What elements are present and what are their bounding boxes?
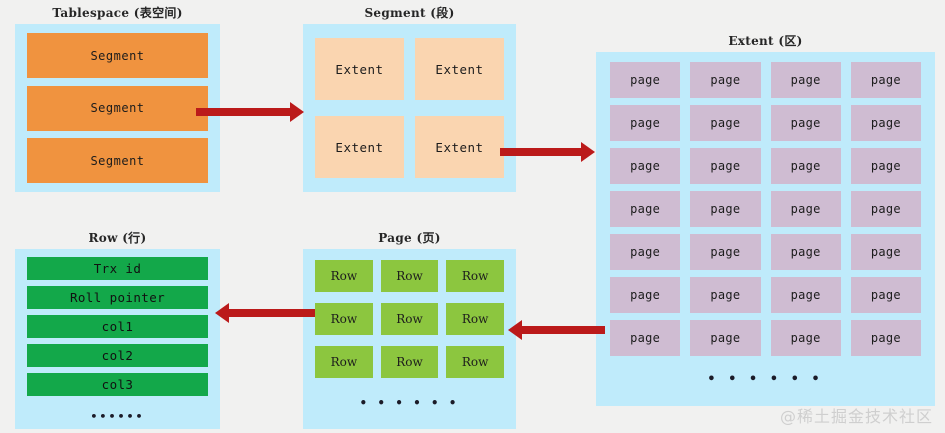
page-box: page xyxy=(610,320,680,356)
page-box: page xyxy=(610,105,680,141)
extent-box: Extent xyxy=(315,116,404,178)
row-panel: Trx id Roll pointer col1 col2 col3 •••••… xyxy=(15,249,220,429)
extent-box: Extent xyxy=(315,38,404,100)
extent-box: Extent xyxy=(415,116,504,178)
row-box: Row xyxy=(315,260,373,292)
row-box: Row xyxy=(315,346,373,378)
tablespace-panel: Segment Segment Segment xyxy=(15,24,220,192)
page-box: page xyxy=(690,234,760,270)
page-box: page xyxy=(690,105,760,141)
tablespace-group: Tablespace (表空间) Segment Segment Segment xyxy=(15,6,220,192)
page-box: page xyxy=(771,62,841,98)
page-box: page xyxy=(610,191,680,227)
page-box: page xyxy=(851,320,921,356)
page-box: page xyxy=(690,191,760,227)
row-box: Row xyxy=(381,346,439,378)
page-box: page xyxy=(610,148,680,184)
page-grid: page page page page page page page page … xyxy=(610,62,921,356)
row-title: Row (行) xyxy=(15,231,220,246)
watermark: @稀土掘金技术社区 xyxy=(780,403,933,427)
page-group: Page (页) Row Row Row Row Row Row Row Row… xyxy=(303,231,516,429)
page-box: page xyxy=(610,277,680,313)
row-field-col3: col3 xyxy=(27,373,208,396)
arrow-extent-to-page-icon xyxy=(521,326,605,334)
page-box: page xyxy=(771,191,841,227)
segment-panel: Extent Extent Extent Extent xyxy=(303,24,516,192)
page-box: page xyxy=(851,234,921,270)
tablespace-title: Tablespace (表空间) xyxy=(15,6,220,21)
row-field-col2: col2 xyxy=(27,344,208,367)
page-box: page xyxy=(771,234,841,270)
page-box: page xyxy=(690,148,760,184)
page-box: page xyxy=(851,148,921,184)
row-field-col1: col1 xyxy=(27,315,208,338)
diagram-canvas: Tablespace (表空间) Segment Segment Segment… xyxy=(0,0,945,433)
arrow-page-to-row-icon xyxy=(228,309,315,317)
row-box: Row xyxy=(446,346,504,378)
segment-box: Segment xyxy=(27,33,208,78)
row-group: Row (行) Trx id Roll pointer col1 col2 co… xyxy=(15,231,220,429)
page-title: Page (页) xyxy=(303,231,516,246)
page-box: page xyxy=(851,277,921,313)
page-box: page xyxy=(610,234,680,270)
page-box: page xyxy=(690,320,760,356)
row-box: Row xyxy=(446,260,504,292)
row-box: Row xyxy=(381,260,439,292)
row-field-trx-id: Trx id xyxy=(27,257,208,280)
page-box: page xyxy=(851,191,921,227)
extent-ellipsis: • • • • • • xyxy=(610,372,921,387)
segment-box: Segment xyxy=(27,86,208,131)
page-box: page xyxy=(771,148,841,184)
page-box: page xyxy=(771,105,841,141)
page-ellipsis: • • • • • • xyxy=(315,396,504,410)
segment-box: Segment xyxy=(27,138,208,183)
segment-group: Segment (段) Extent Extent Extent Extent xyxy=(303,6,516,192)
page-box: page xyxy=(771,277,841,313)
page-box: page xyxy=(610,62,680,98)
row-ellipsis: •••••• xyxy=(27,410,208,423)
extent-title: Extent (区) xyxy=(596,34,935,49)
arrow-tablespace-to-segment-icon xyxy=(196,108,291,116)
page-panel: Row Row Row Row Row Row Row Row Row • • … xyxy=(303,249,516,429)
segment-title: Segment (段) xyxy=(303,6,516,21)
row-field-roll-pointer: Roll pointer xyxy=(27,286,208,309)
arrow-segment-to-extent-icon xyxy=(500,148,582,156)
row-grid: Row Row Row Row Row Row Row Row Row xyxy=(315,260,504,378)
row-box: Row xyxy=(315,303,373,335)
extent-box: Extent xyxy=(415,38,504,100)
page-box: page xyxy=(851,62,921,98)
page-box: page xyxy=(690,277,760,313)
row-box: Row xyxy=(446,303,504,335)
extent-group: Extent (区) page page page page page page… xyxy=(596,34,935,406)
page-box: page xyxy=(851,105,921,141)
extent-panel: page page page page page page page page … xyxy=(596,52,935,406)
page-box: page xyxy=(690,62,760,98)
row-box: Row xyxy=(381,303,439,335)
page-box: page xyxy=(771,320,841,356)
